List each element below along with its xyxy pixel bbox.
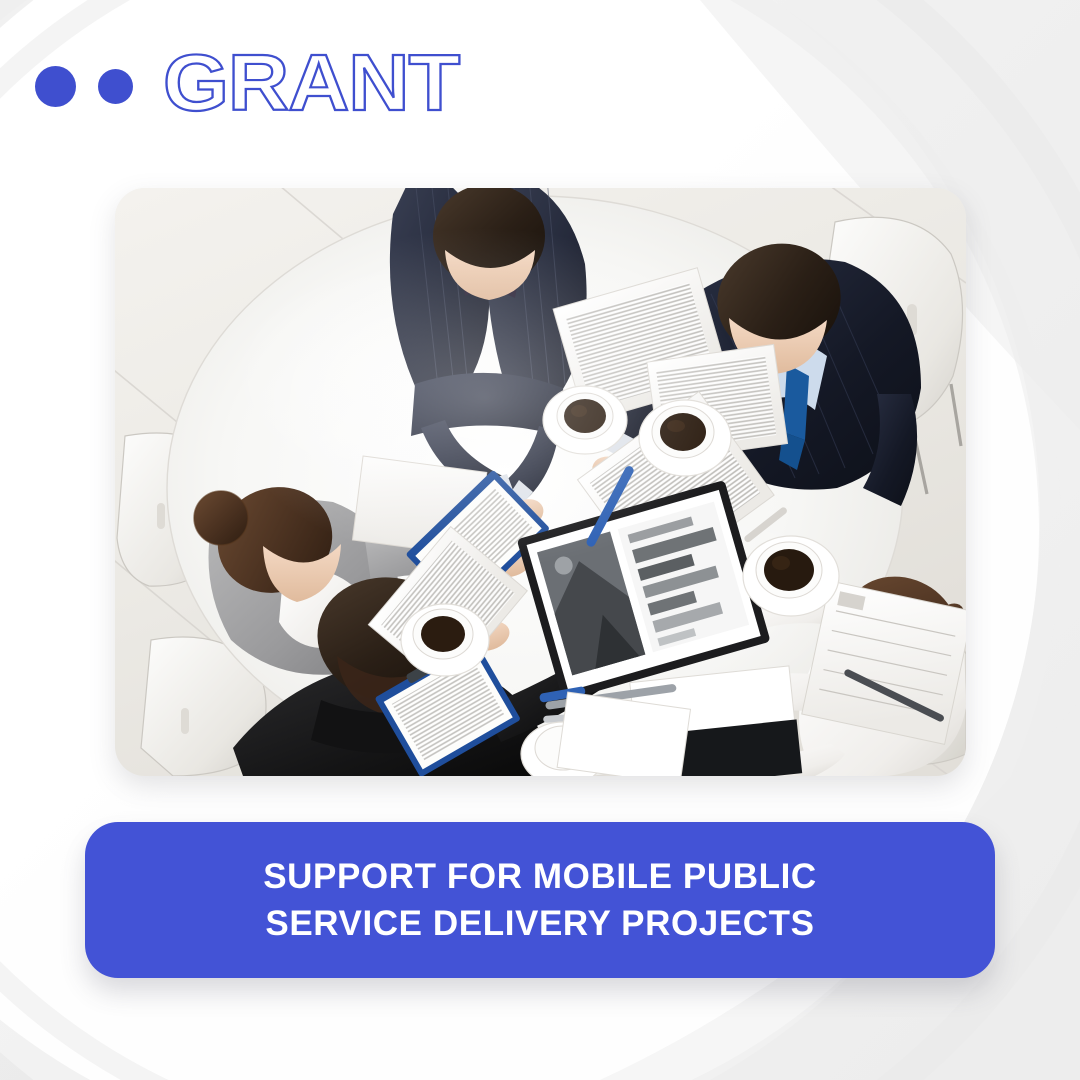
logo-dot-large-icon xyxy=(35,66,76,107)
meeting-photo-card: Overhead view of five business people in… xyxy=(115,188,966,776)
logo-dot-small-icon xyxy=(98,69,133,104)
coffee-cup-bottom-left xyxy=(401,604,489,676)
brand-logo: GRANT xyxy=(30,52,442,120)
brand-wordmark: GRANT xyxy=(163,43,459,123)
meeting-photo: Overhead view of five business people in… xyxy=(115,188,966,776)
banner-line-2: SERVICE DELIVERY PROJECTS xyxy=(265,900,814,947)
title-banner: SUPPORT FOR MOBILE PUBLIC SERVICE DELIVE… xyxy=(85,822,995,978)
logo-dots-group xyxy=(30,66,133,107)
banner-line-1: SUPPORT FOR MOBILE PUBLIC xyxy=(263,853,817,900)
